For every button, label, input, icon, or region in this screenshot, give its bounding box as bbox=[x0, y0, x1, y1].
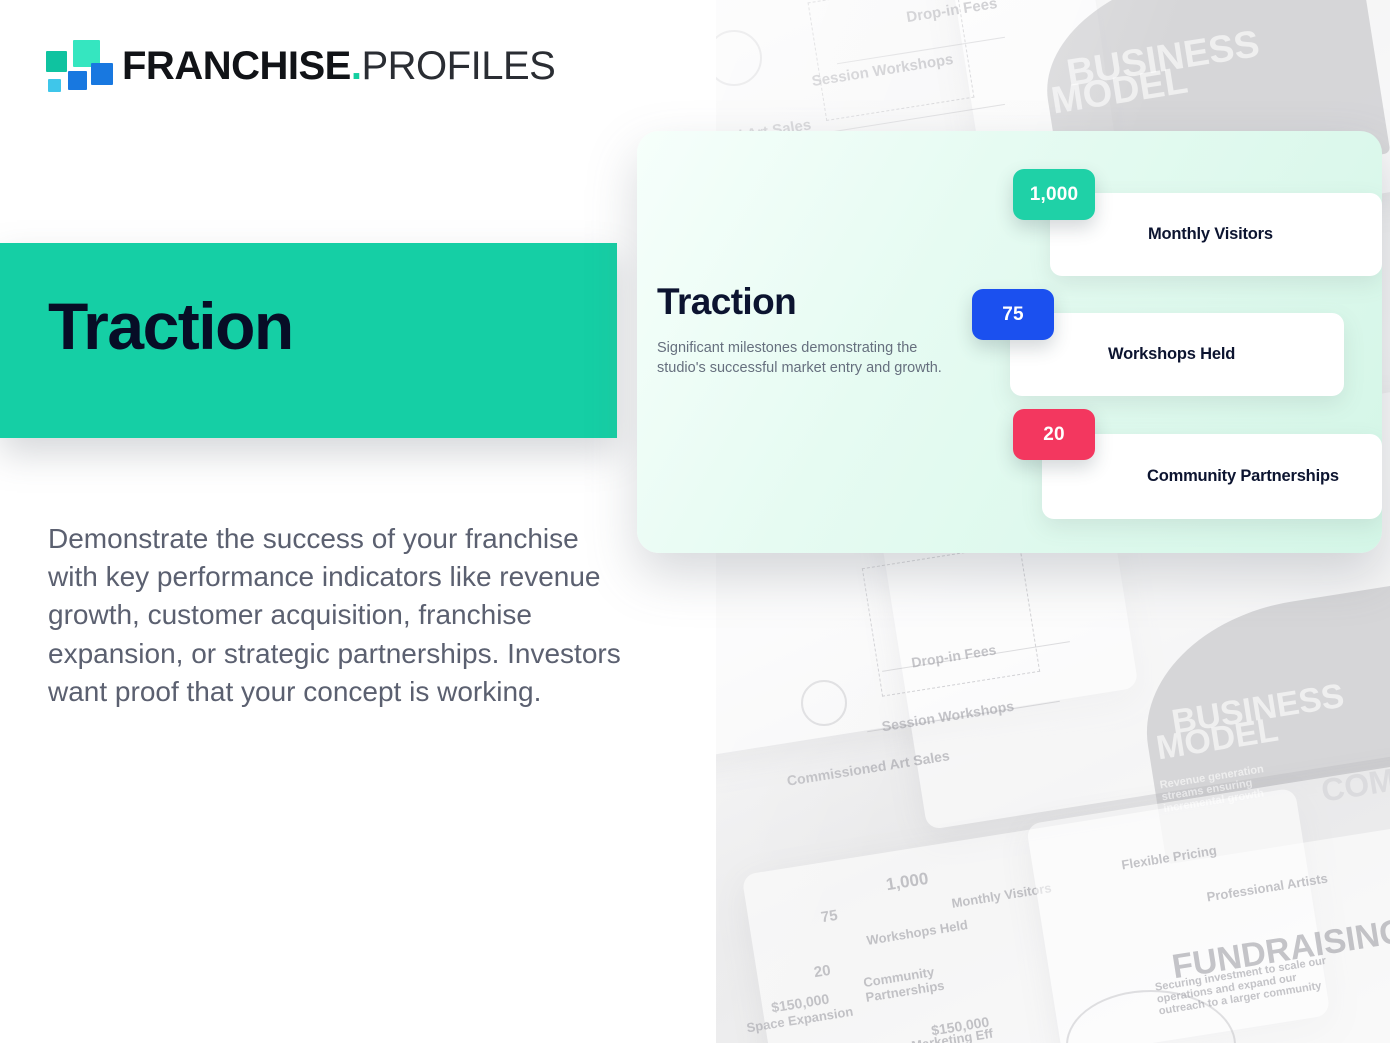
metric-plate: Workshops Held bbox=[1010, 313, 1344, 396]
slide-subtitle: Significant milestones demonstrating the… bbox=[657, 338, 967, 379]
ghost-box bbox=[808, 0, 975, 121]
logo-squares-icon bbox=[46, 40, 104, 92]
metric-label: Monthly Visitors bbox=[1148, 224, 1273, 244]
ghost-label: Marketing Eff bbox=[910, 1026, 994, 1043]
logo-square-teal-dark bbox=[46, 51, 67, 72]
ghost-label: Session Workshops bbox=[881, 698, 1015, 735]
ghost-box bbox=[862, 543, 1040, 696]
ghost-circle bbox=[1066, 990, 1236, 1043]
ghost-label: $150,000 bbox=[770, 991, 830, 1016]
brand-logo: FRANCHISE.PROFILES bbox=[46, 40, 555, 92]
ghost-label: BUSINESS bbox=[1169, 677, 1347, 743]
ghost-line bbox=[882, 641, 1070, 672]
traction-slide-card[interactable]: Traction Significant milestones demonstr… bbox=[637, 131, 1382, 553]
ghost-line bbox=[867, 701, 1060, 732]
metrics-list: Monthly Visitors 1,000 Workshops Held 75… bbox=[1005, 131, 1382, 553]
logo-square-blue-small bbox=[68, 71, 87, 90]
ghost-label: Space Expansion bbox=[745, 1004, 854, 1036]
metric-label: Workshops Held bbox=[1108, 344, 1235, 364]
ghost-sheet bbox=[1026, 759, 1390, 1043]
ghost-label: Community Partnerships bbox=[862, 961, 956, 1005]
metric-value-badge: 1,000 bbox=[1013, 169, 1095, 220]
ghost-label: Flexible Pricing bbox=[1120, 843, 1217, 873]
brand-name-light: PROFILES bbox=[361, 46, 555, 86]
ghost-label: MODEL bbox=[1154, 711, 1281, 769]
logo-square-cyan bbox=[48, 79, 61, 92]
metric-value-badge: 20 bbox=[1013, 409, 1095, 460]
ghost-label: Drop-in Fees bbox=[910, 641, 997, 670]
ghost-label: 75 bbox=[820, 907, 839, 926]
metric-plate: Monthly Visitors bbox=[1050, 193, 1382, 276]
ghost-label: 20 bbox=[813, 962, 832, 981]
ghost-circle bbox=[801, 680, 847, 726]
ghost-label: Professional Artists bbox=[1206, 871, 1329, 905]
ghost-label: Session Workshops bbox=[811, 51, 955, 90]
ghost-label: Securing investment to scale our operati… bbox=[1154, 955, 1332, 1018]
section-banner: Traction bbox=[0, 243, 617, 438]
metric-value-badge: 75 bbox=[972, 289, 1054, 340]
metric-label: Community Partnerships bbox=[1147, 466, 1339, 486]
ghost-label: Drop-in Fees bbox=[905, 0, 998, 26]
ghost-label: FUNDRAISING bbox=[1169, 912, 1390, 987]
ghost-label: COMM bbox=[1319, 757, 1390, 809]
ghost-label: Commissioned Art Sales bbox=[786, 747, 951, 789]
ghost-shape bbox=[1129, 576, 1390, 865]
ghost-label: MODEL bbox=[1048, 60, 1190, 124]
brand-wordmark: FRANCHISE.PROFILES bbox=[122, 46, 555, 86]
ghost-label: BUSINESS bbox=[1064, 23, 1263, 96]
ghost-label: Monthly Visitors bbox=[950, 880, 1052, 911]
section-description: Demonstrate the success of your franchis… bbox=[48, 520, 633, 711]
slide-heading-block: Traction Significant milestones demonstr… bbox=[657, 283, 967, 379]
ghost-label: Workshops Held bbox=[865, 917, 968, 948]
ghost-circle bbox=[716, 30, 762, 86]
ghost-label: 1,000 bbox=[885, 869, 930, 895]
ghost-line bbox=[837, 37, 1005, 65]
brand-name-dot: . bbox=[351, 46, 362, 86]
ghost-label: $150,000 bbox=[930, 1014, 990, 1039]
slide-title: Traction bbox=[657, 283, 967, 320]
brand-name-bold: FRANCHISE bbox=[122, 46, 351, 86]
ghost-label: Revenue generation streams ensuring incr… bbox=[1159, 761, 1283, 815]
ghost-sheet bbox=[741, 788, 1330, 1043]
ghost-line bbox=[827, 104, 1005, 133]
page-title: Traction bbox=[48, 293, 293, 359]
logo-square-blue-large bbox=[91, 63, 113, 85]
